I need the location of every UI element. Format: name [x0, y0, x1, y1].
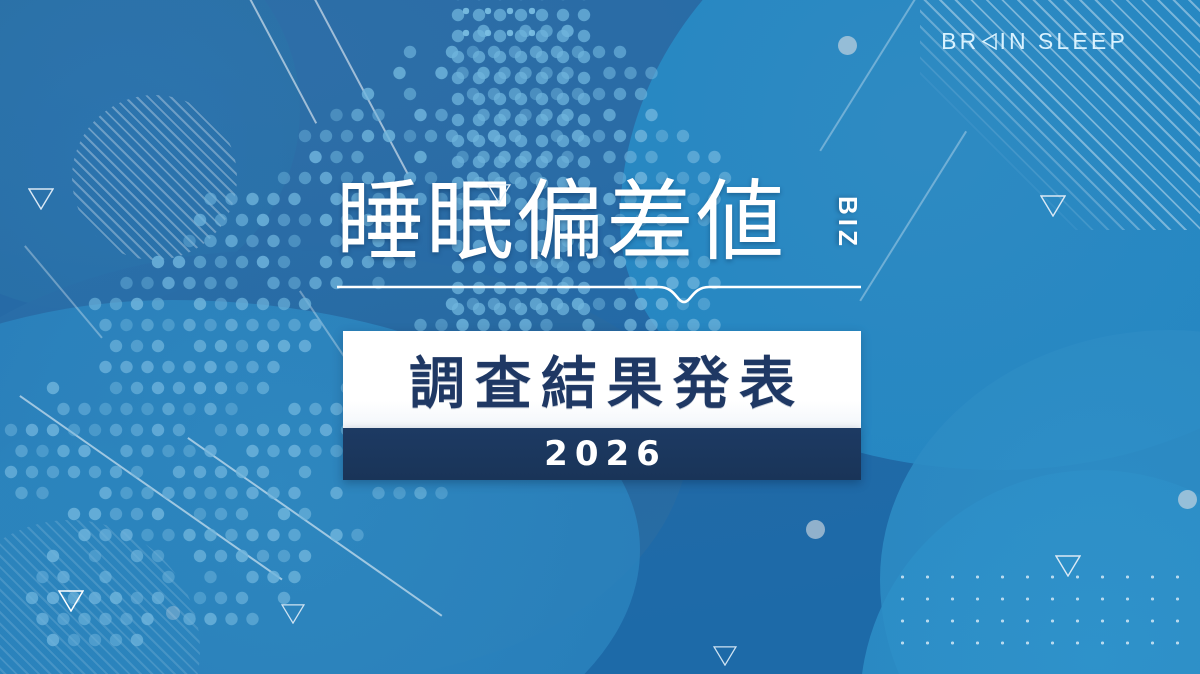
- page-title: 睡眠偏差値: [336, 178, 856, 266]
- title-underline-brace: [337, 284, 861, 306]
- year-text: 2026: [537, 434, 667, 474]
- headline-text: 調査結果発表: [399, 339, 805, 420]
- title-block: 睡眠偏差値 BIZ 調査結果発表 2026: [0, 0, 1200, 674]
- headline-banner: 調査結果発表: [343, 331, 861, 428]
- title-suffix-biz: BIZ: [832, 196, 863, 250]
- year-bar: 2026: [343, 428, 861, 480]
- slide-canvas: BR IN SLEEP 睡眠偏差値 BIZ 調査結果発表 2026: [0, 0, 1200, 674]
